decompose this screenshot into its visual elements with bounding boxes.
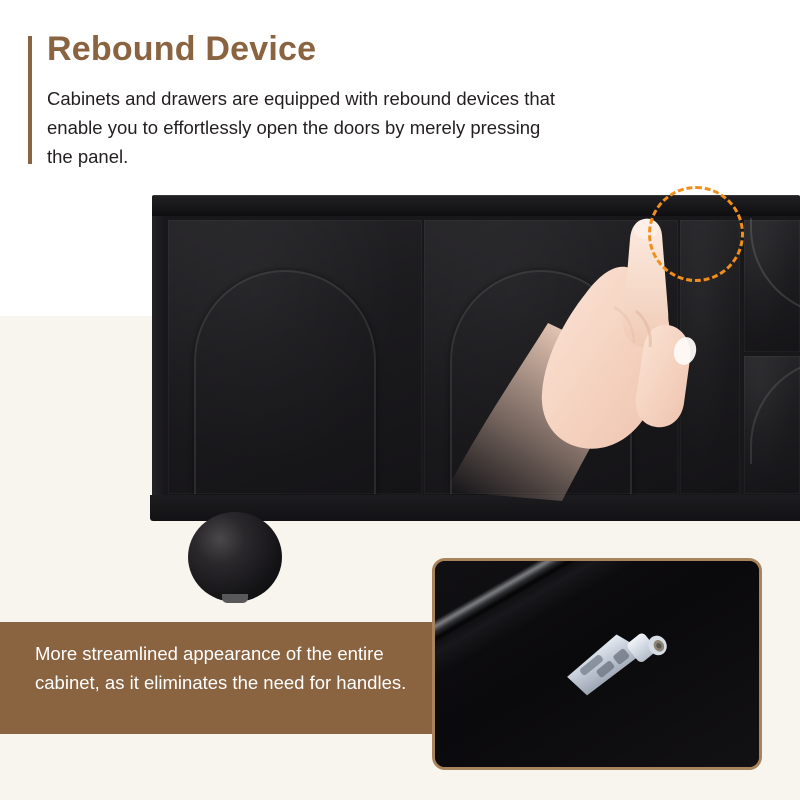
arch-groove-icon bbox=[450, 270, 632, 494]
cabinet-drawer-upper bbox=[744, 220, 800, 352]
caption-banner: More streamlined appearance of the entir… bbox=[0, 622, 433, 734]
page-description: Cabinets and drawers are equipped with r… bbox=[47, 84, 567, 172]
caption-text: More streamlined appearance of the entir… bbox=[35, 639, 415, 697]
press-point-marker bbox=[648, 186, 744, 282]
arch-groove-icon bbox=[750, 358, 800, 464]
latch-closeup-photo bbox=[435, 561, 759, 767]
cabinet-ball-foot bbox=[188, 512, 282, 602]
product-feature-card: Rebound Device Cabinets and drawers are … bbox=[0, 0, 800, 800]
arch-groove-icon bbox=[194, 270, 376, 494]
cabinet-door-left bbox=[168, 220, 422, 494]
arch-groove-icon bbox=[750, 218, 800, 316]
heading-accent-bar bbox=[28, 36, 32, 164]
page-title: Rebound Device bbox=[47, 31, 316, 68]
foot-pad bbox=[222, 594, 248, 603]
cabinet-left-panel bbox=[152, 216, 166, 499]
push-latch-hardware bbox=[555, 606, 680, 713]
detail-inset-panel bbox=[432, 558, 762, 770]
cabinet-door-center bbox=[424, 220, 678, 494]
cabinet-drawer-lower bbox=[744, 356, 800, 494]
